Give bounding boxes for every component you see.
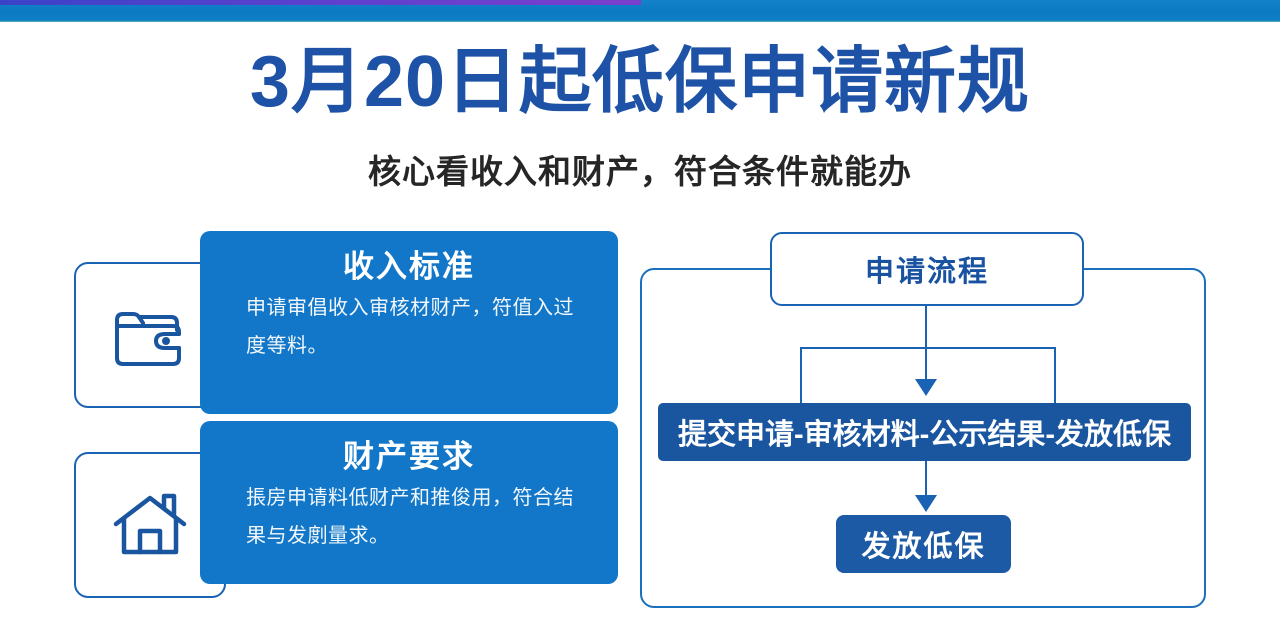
top-bar-edge-divider [0, 20, 1280, 22]
flow-final-label: 发放低保 [861, 523, 985, 565]
connector-vertical-to-final [925, 461, 927, 497]
property-requirement-card: 财产要求 掁房申请料低财产和推俊用，符合结果与发剫量求。 [200, 421, 618, 584]
arrow-head-to-final [915, 495, 937, 512]
page-subtitle: 核心看收入和财产，符合条件就能办 [0, 151, 1280, 193]
connector-vertical-main [925, 306, 927, 348]
income-card-body: 申请审倡收入审核材财产，符值入过度等料。 [224, 289, 594, 365]
income-card-title: 收入标准 [224, 245, 594, 289]
flow-steps-box: 提交申请-审核材料-公示结果-发放低保 [658, 403, 1191, 461]
flow-steps-label: 提交申请-审核材料-公示结果-发放低保 [678, 411, 1171, 453]
top-purple-accent-bar [0, 0, 641, 5]
connector-vertical-left [800, 347, 802, 404]
house-icon [111, 490, 189, 560]
infographic-canvas: 3月20日起低保申请新规 核心看收入和财产，符合条件就能办 收入标准 申请审倡收… [0, 0, 1280, 623]
connector-vertical-to-steps [925, 347, 927, 381]
property-card-body: 掁房申请料低财产和推俊用，符合结果与发剫量求。 [224, 479, 594, 555]
wallet-icon [111, 300, 189, 370]
income-standard-card: 收入标准 申请审倡收入审核材财产，符值入过度等料。 [200, 231, 618, 414]
flow-header-box: 申请流程 [770, 232, 1084, 306]
connector-vertical-right [1054, 347, 1056, 404]
connector-horizontal-bracket [800, 347, 1056, 349]
arrow-head-to-steps [915, 379, 937, 396]
flow-final-box: 发放低保 [836, 515, 1011, 573]
property-card-title: 财产要求 [224, 435, 594, 479]
flow-header-label: 申请流程 [865, 248, 989, 290]
page-title: 3月20日起低保申请新规 [0, 42, 1280, 122]
